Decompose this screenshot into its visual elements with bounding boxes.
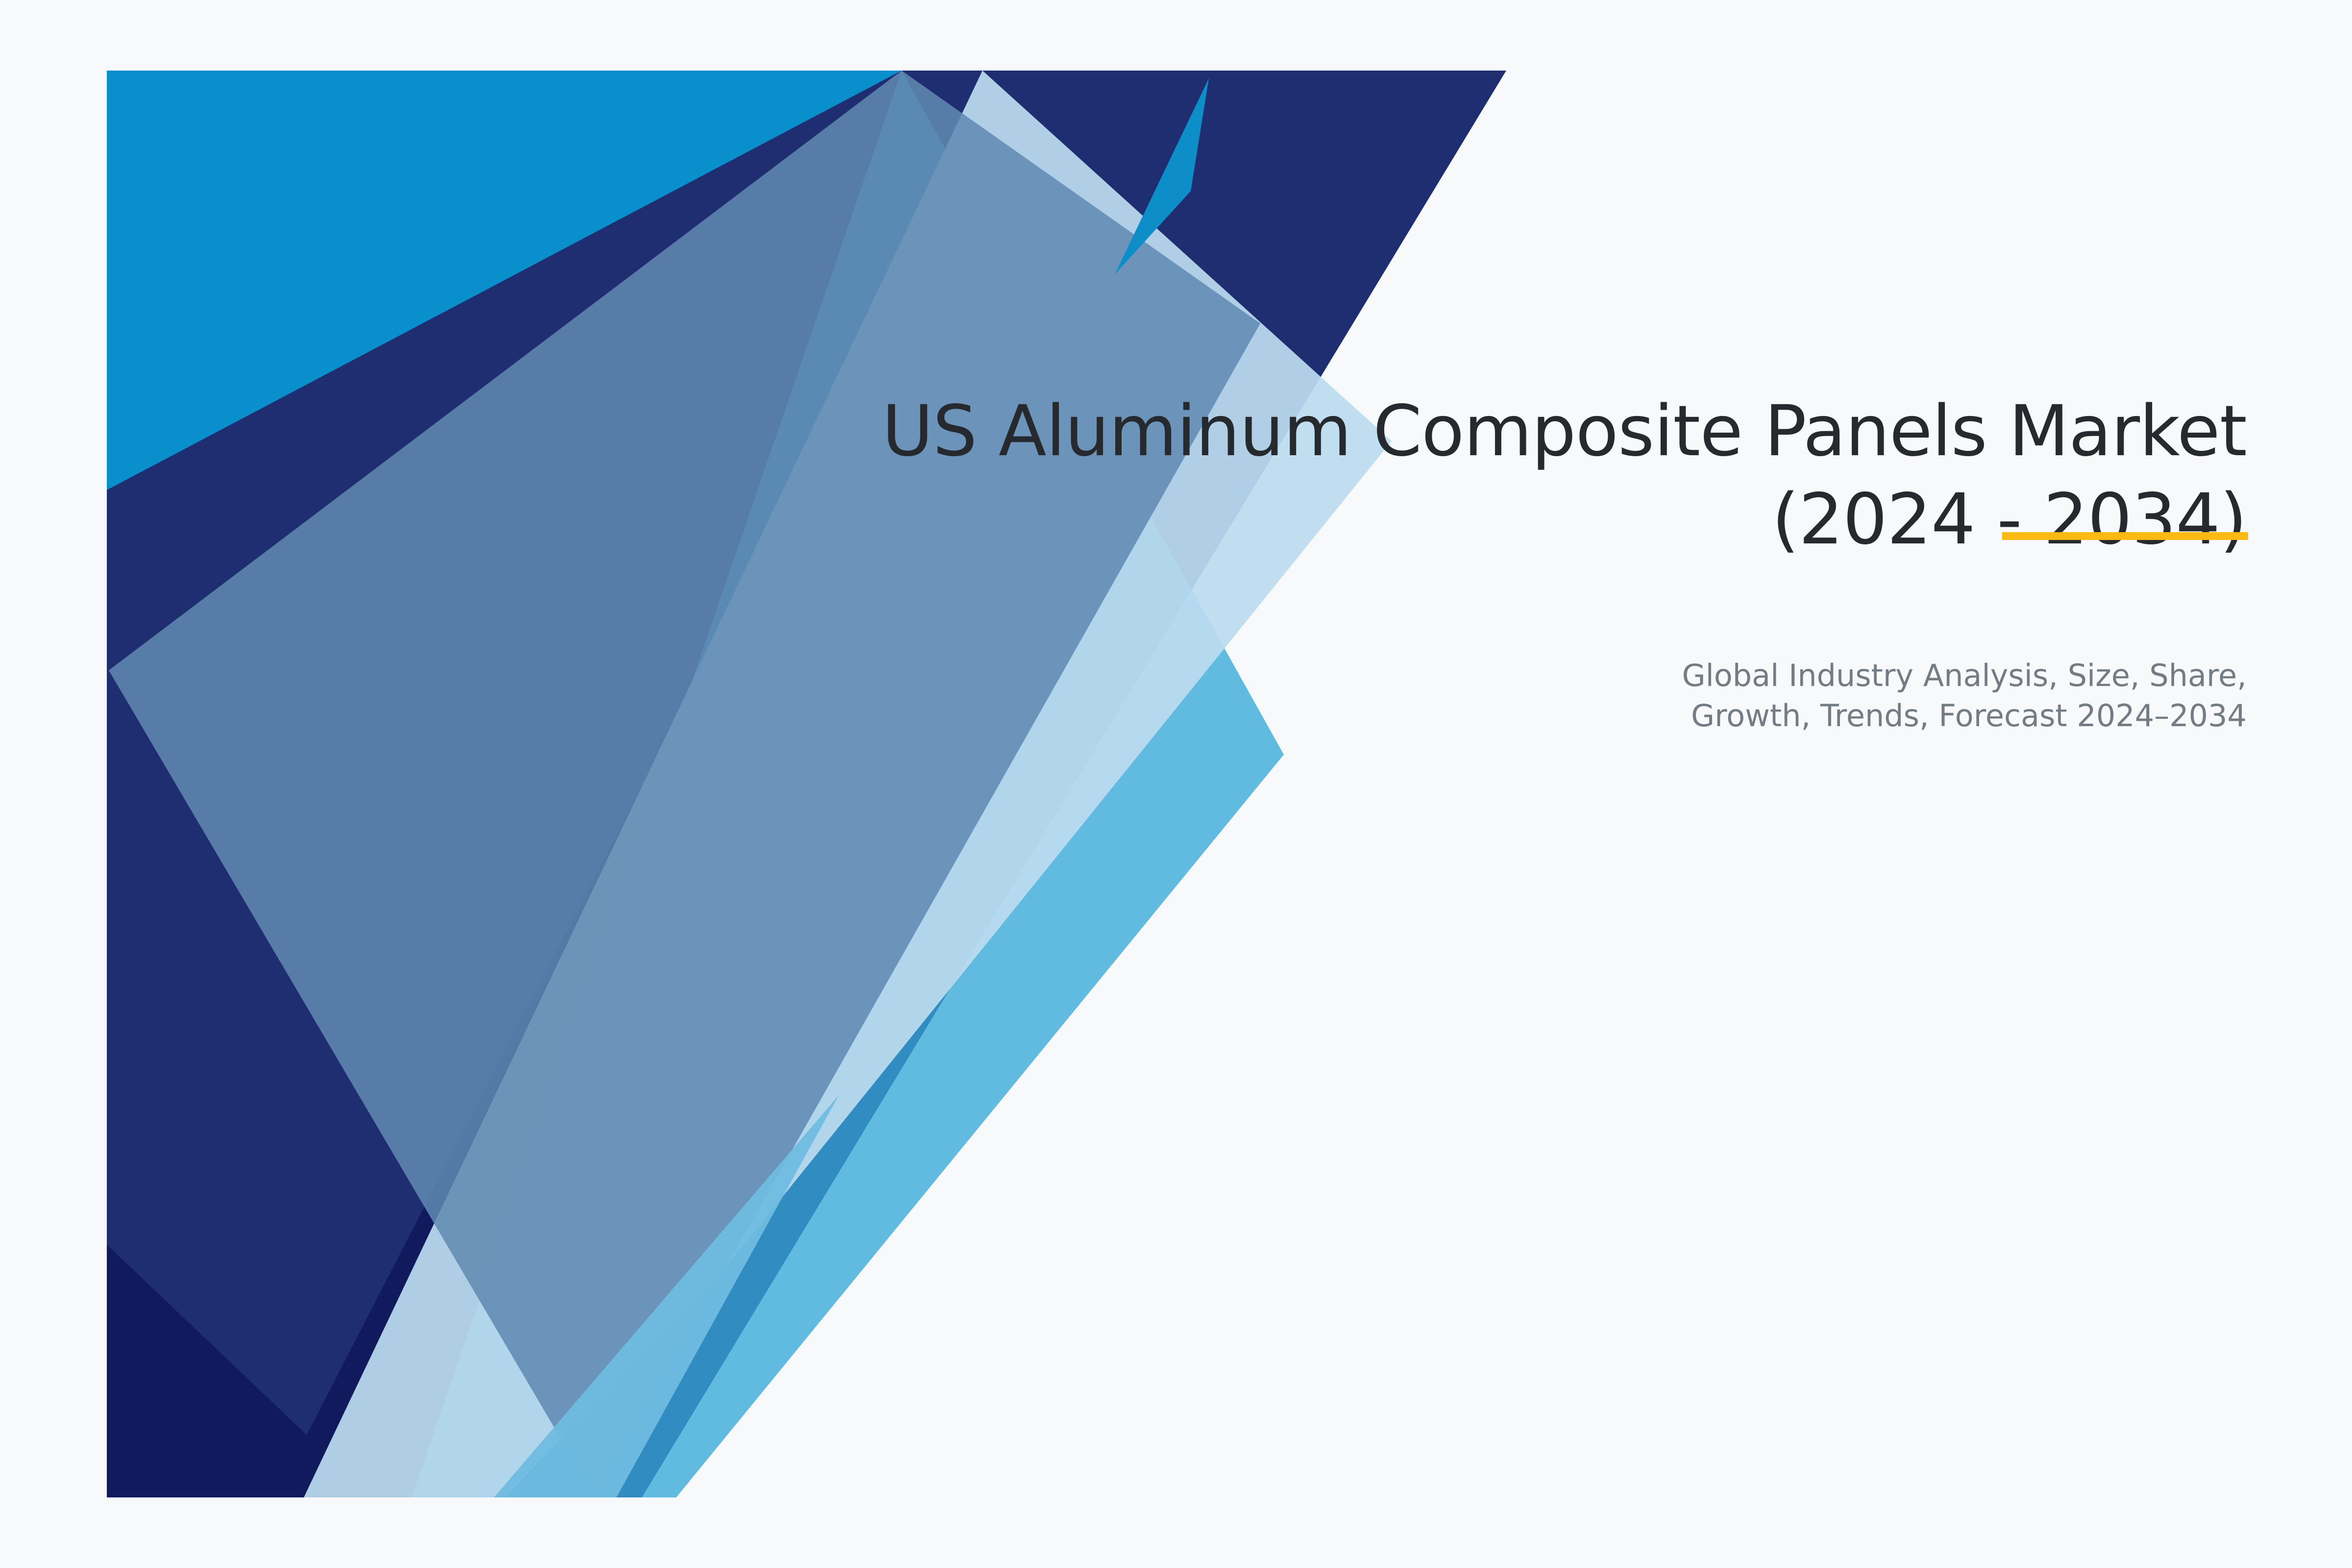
page-subtitle-line-2: Growth, Trends, Forecast 2024–2034 (1274, 696, 2247, 736)
title-accent-underline (2002, 532, 2248, 540)
page-subtitle-line-1: Global Industry Analysis, Size, Share, (1274, 656, 2247, 696)
report-cover-page: US Aluminum Composite Panels Market (202… (0, 0, 2352, 1568)
abstract-geometric-artwork (0, 0, 2352, 1568)
page-title-line-2: (2024 - 2034) (710, 475, 2247, 563)
page-subtitle: Global Industry Analysis, Size, Share, G… (1274, 656, 2247, 736)
page-title-line-1: US Aluminum Composite Panels Market (710, 387, 2247, 475)
